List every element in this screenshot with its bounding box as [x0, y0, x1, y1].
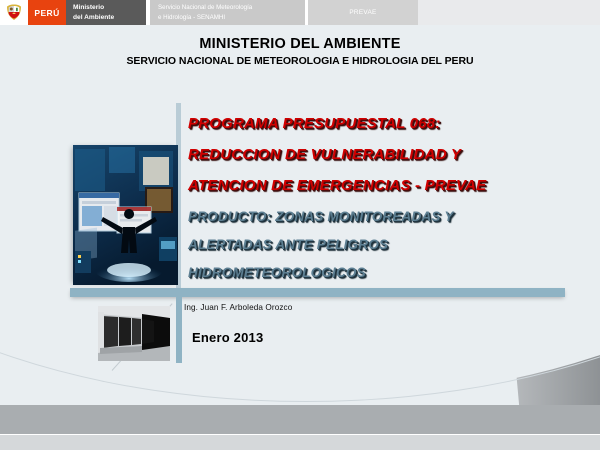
page-subtitle: SERVICIO NACIONAL DE METEOROLOGIA E HIDR… — [0, 55, 600, 67]
senamhi-label-line2: e Hidrología - SENAMHI — [158, 13, 305, 22]
peru-coat-of-arms-icon — [0, 0, 28, 25]
main-title-red: PROGRAMA PRESUPUESTAL 068: REDUCCION DE … — [188, 108, 558, 201]
control-room-image — [73, 145, 178, 285]
page-title: MINISTERIO DEL AMBIENTE — [0, 36, 600, 52]
horizontal-accent-rule — [70, 288, 565, 297]
bottom-strip — [0, 434, 600, 450]
main-title-line-3: ATENCION DE EMERGENCIAS - PREVAE — [188, 170, 558, 201]
government-bar: PERÚ Ministerio del Ambiente Servicio Na… — [0, 0, 600, 25]
product-title-steel: PRODUCTO: ZONAS MONITOREADAS Y ALERTADAS… — [188, 203, 518, 287]
author-name: Ing. Juan F. Arboleda Orozco — [184, 303, 292, 312]
ministry-label: Ministerio del Ambiente — [66, 0, 146, 25]
product-title-line-1: PRODUCTO: ZONAS MONITOREADAS Y — [188, 203, 518, 231]
institution-header: MINISTERIO DEL AMBIENTE SERVICIO NACIONA… — [0, 36, 600, 67]
prevae-tab[interactable]: PREVAE — [308, 0, 418, 25]
ministry-label-line1: Ministerio — [73, 3, 146, 13]
senamhi-label-line1: Servicio Nacional de Meteorología — [158, 3, 305, 12]
govbar-tail — [418, 0, 600, 25]
peru-label: PERÚ — [28, 0, 66, 25]
ministry-label-line2: del Ambiente — [73, 13, 146, 23]
product-title-line-2: ALERTADAS ANTE PELIGROS — [188, 231, 518, 259]
main-title-line-2: REDUCCION DE VULNERABILIDAD Y — [188, 139, 558, 170]
main-title-line-1: PROGRAMA PRESUPUESTAL 068: — [188, 108, 558, 139]
vertical-accent-rule — [176, 288, 182, 363]
presentation-slide: PERÚ Ministerio del Ambiente Servicio Na… — [0, 0, 600, 450]
bottom-grey-band — [0, 405, 600, 435]
product-title-line-3: HIDROMETEOROLOGICOS — [188, 259, 518, 287]
presentation-date: Enero 2013 — [192, 330, 263, 345]
senamhi-label: Servicio Nacional de Meteorología e Hidr… — [150, 0, 305, 25]
server-room-image — [98, 306, 170, 361]
